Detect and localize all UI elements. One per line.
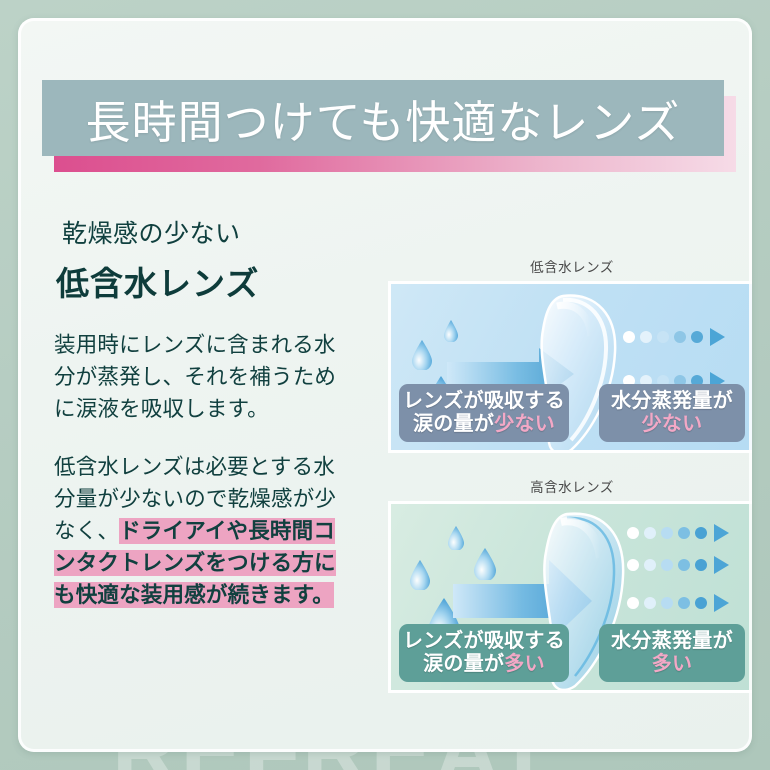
evap-dot xyxy=(695,527,707,539)
panel-caption: 低含水レンズ xyxy=(388,256,752,276)
label-absorbed-tears-high: レンズが吸収する 涙の量が多い xyxy=(399,624,569,682)
evap-dot xyxy=(627,527,639,539)
evap-dot xyxy=(640,331,652,343)
evap-arrow-icon xyxy=(714,594,729,612)
evap-dot xyxy=(627,597,639,609)
title-banner: 長時間つけても快適なレンズ xyxy=(42,80,728,168)
pill-amount: 多い xyxy=(504,653,545,675)
pill-amount: 多い xyxy=(599,653,745,676)
main-heading: 低含水レンズ xyxy=(56,257,354,305)
body-paragraph-2: 低含水レンズは必要とする水分量が少ないので乾燥感が少なく、ドライアイや長時間コン… xyxy=(54,451,354,611)
evap-dot xyxy=(661,597,673,609)
page-title: 長時間つけても快適なレンズ xyxy=(86,86,681,151)
evap-dot xyxy=(644,527,656,539)
diagram-low-water: レンズが吸収する 涙の量が少ない 水分蒸発量が 少ない xyxy=(388,281,752,453)
pill-line-1: レンズが吸収する xyxy=(399,630,569,653)
panel-caption: 高含水レンズ xyxy=(388,476,752,496)
evap-dot xyxy=(657,331,669,343)
diagram-high-water: レンズが吸収する 涙の量が多い 水分蒸発量が 多い xyxy=(388,501,752,693)
sub-heading: 乾燥感の少ない xyxy=(62,214,354,250)
evaporation-row xyxy=(627,594,729,612)
water-droplet-icon xyxy=(411,340,433,370)
banner-plate: 長時間つけても快適なレンズ xyxy=(42,80,724,156)
water-droplet-icon xyxy=(447,526,465,550)
pill-line-2: 涙の量が多い xyxy=(399,653,569,676)
evap-dot xyxy=(661,527,673,539)
pill-line-1: 水分蒸発量が xyxy=(599,390,745,413)
evap-dot xyxy=(644,559,656,571)
pill-prefix: 涙の量が xyxy=(423,653,504,675)
pill-amount: 少ない xyxy=(494,413,555,435)
left-text-column: 乾燥感の少ない 低含水レンズ 装用時にレンズに含まれる水分が蒸発し、それを補うた… xyxy=(54,214,354,611)
evaporation-row xyxy=(623,328,725,346)
paragraph-plain-tail: く、 xyxy=(76,519,119,543)
water-droplet-icon xyxy=(409,560,431,590)
evap-dot xyxy=(678,597,690,609)
evaporation-row xyxy=(627,524,729,542)
evap-dot xyxy=(674,331,686,343)
content-card: 長時間つけても快適なレンズ 乾燥感の少ない 低含水レンズ 装用時にレンズに含まれ… xyxy=(18,18,752,752)
pill-prefix: 涙の量が xyxy=(413,413,494,435)
evap-dot xyxy=(627,559,639,571)
pill-amount: 少ない xyxy=(599,413,745,436)
evap-arrow-icon xyxy=(710,328,725,346)
evap-arrow-icon xyxy=(714,556,729,574)
water-droplet-icon xyxy=(443,320,459,342)
label-absorbed-tears-low: レンズが吸収する 涙の量が少ない xyxy=(399,384,569,442)
body-paragraph-1: 装用時にレンズに含まれる水分が蒸発し、それを補うために涙液を吸収します。 xyxy=(54,329,354,425)
label-evaporation-high: 水分蒸発量が 多い xyxy=(599,624,745,682)
panel-low-water: 低含水レンズ xyxy=(388,256,752,453)
evap-dot xyxy=(691,331,703,343)
evap-dot xyxy=(661,559,673,571)
evap-dot xyxy=(695,597,707,609)
evaporation-row xyxy=(627,556,729,574)
evap-dot xyxy=(678,527,690,539)
panel-high-water: 高含水レンズ xyxy=(388,476,752,693)
pill-line-2: 涙の量が少ない xyxy=(399,413,569,436)
evap-dot xyxy=(678,559,690,571)
evap-dot xyxy=(644,597,656,609)
pill-line-1: レンズが吸収する xyxy=(399,390,569,413)
evap-dot xyxy=(623,331,635,343)
pill-line-1: 水分蒸発量が xyxy=(599,630,745,653)
evap-dot xyxy=(695,559,707,571)
label-evaporation-low: 水分蒸発量が 少ない xyxy=(599,384,745,442)
infographic-root: TO YOUR WANT EYES THAT REFREAT REFREAT R… xyxy=(0,0,770,770)
evap-arrow-icon xyxy=(714,524,729,542)
